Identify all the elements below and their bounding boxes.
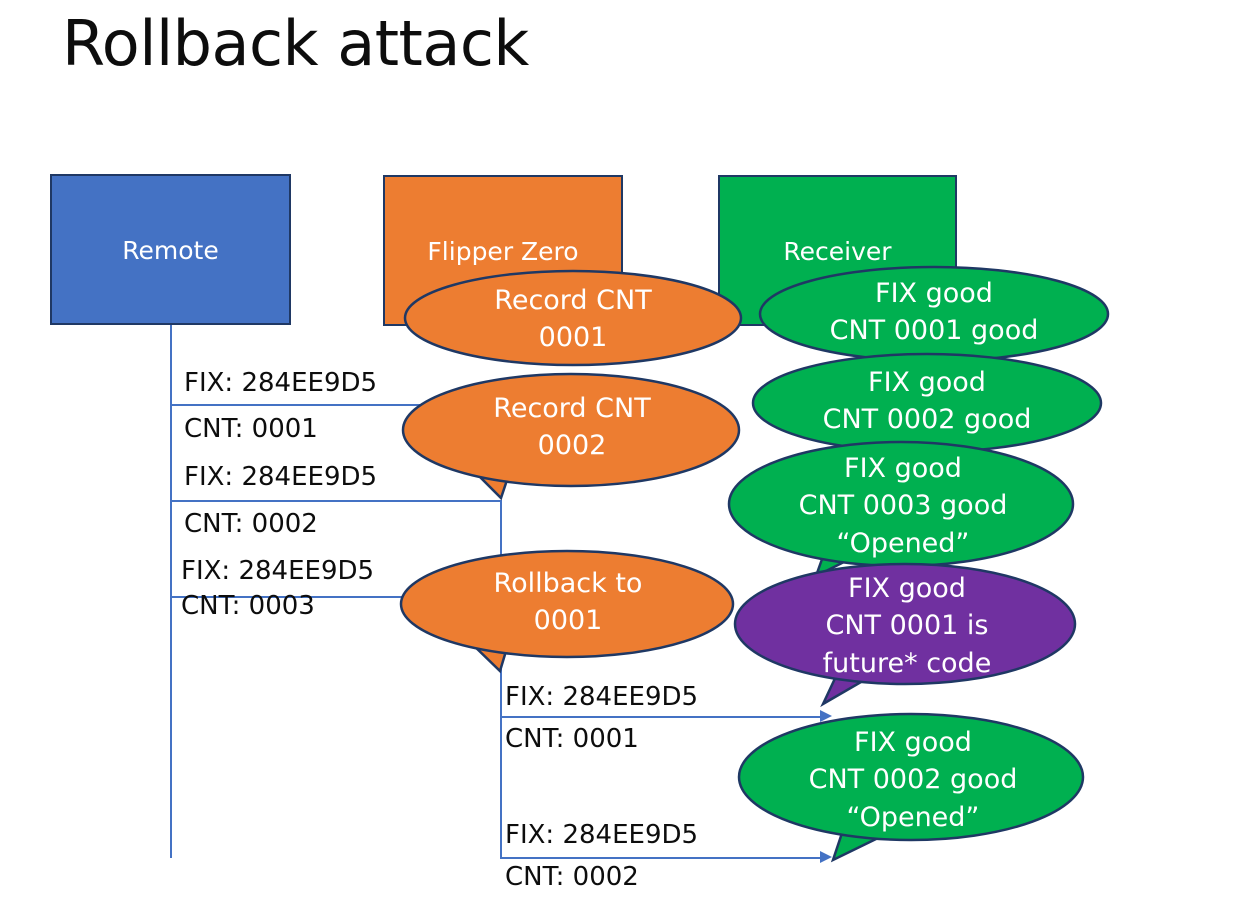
actor-label-receiver: Receiver xyxy=(783,237,891,266)
message-fix-m5: FIX: 284EE9D5 xyxy=(505,820,698,850)
callout-receiver-cnt-0001-future: FIX good CNT 0001 is future* code xyxy=(733,562,1081,707)
callout-shape xyxy=(403,374,739,486)
message-line-m1 xyxy=(170,404,435,406)
message-cnt-m4: CNT: 0001 xyxy=(505,724,639,754)
callout-shape xyxy=(739,714,1083,840)
callout-flipper-record-0001: Record CNT 0001 xyxy=(403,268,743,368)
message-fix-m2: FIX: 284EE9D5 xyxy=(184,462,377,492)
actor-label-remote: Remote xyxy=(122,236,218,265)
slide-canvas: Rollback attack Remote Flipper Zero Rece… xyxy=(0,0,1233,898)
callout-receiver-cnt-0003-opened: FIX good CNT 0003 good “Opened” xyxy=(728,440,1078,580)
actor-box-remote: Remote xyxy=(50,174,291,325)
callout-shape xyxy=(753,354,1101,452)
callout-shape xyxy=(729,442,1073,566)
message-cnt-m5: CNT: 0002 xyxy=(505,862,639,892)
message-fix-m1: FIX: 284EE9D5 xyxy=(184,368,377,398)
message-cnt-m2: CNT: 0002 xyxy=(184,509,318,539)
callout-receiver-cnt-0001-good: FIX good CNT 0001 good xyxy=(758,265,1110,365)
callout-shape xyxy=(735,564,1075,684)
message-cnt-m3: CNT: 0003 xyxy=(181,591,315,621)
callout-receiver-cnt-0002-opened: FIX good CNT 0002 good “Opened” xyxy=(738,712,1088,862)
callout-flipper-record-0002: Record CNT 0002 xyxy=(401,372,743,502)
actor-label-flipper-zero: Flipper Zero xyxy=(427,237,578,266)
callout-shape xyxy=(760,267,1108,361)
message-fix-m4: FIX: 284EE9D5 xyxy=(505,682,698,712)
page-title: Rollback attack xyxy=(62,8,529,79)
message-fix-m3: FIX: 284EE9D5 xyxy=(181,556,374,586)
callout-flipper-rollback-0001: Rollback to 0001 xyxy=(399,549,737,675)
callout-shape xyxy=(401,551,733,657)
callout-shape xyxy=(405,271,741,365)
message-cnt-m1: CNT: 0001 xyxy=(184,414,318,444)
